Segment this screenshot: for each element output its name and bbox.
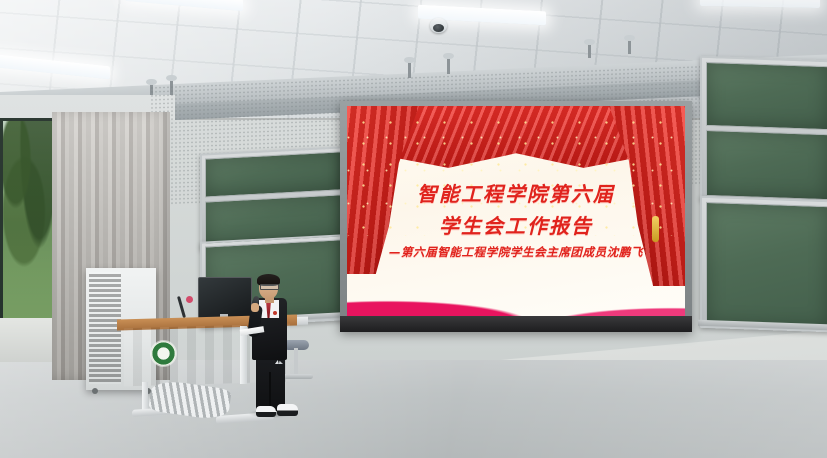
lapel-pin-icon — [273, 311, 277, 315]
rack-caster — [92, 388, 98, 394]
ceiling-sprinkler-head — [447, 58, 450, 74]
green-chalkboard — [700, 196, 827, 333]
screen-title-line-1: 智能工程学院第六届 — [347, 178, 685, 207]
eyeglasses-icon — [260, 284, 279, 290]
office-chair-post — [294, 348, 298, 376]
screen-title-line-2: 学生会工作报告 — [347, 210, 685, 239]
presenter-shoe — [277, 404, 298, 416]
green-chalkboard — [200, 146, 344, 250]
presenter-hand — [251, 303, 259, 312]
ceiling-sprinkler-head — [628, 40, 631, 54]
pink-wave-highlight — [347, 284, 685, 318]
lecture-hall-photo: 智能工程学院第六届 学生会工作报告 —第六届智能工程学院学生会主席团成员沈鹏飞 — [0, 0, 827, 458]
university-crest-emblem — [151, 341, 176, 366]
desktop-monitor[interactable] — [198, 277, 252, 319]
presenter-shoe — [256, 406, 276, 417]
desk-leg — [142, 382, 148, 410]
ceiling-sprinkler-head — [588, 44, 591, 58]
screen-bottom-bar — [340, 316, 692, 332]
dome-security-camera — [430, 18, 447, 33]
indicator-light — [186, 296, 193, 303]
led-display-screen[interactable]: 智能工程学院第六届 学生会工作报告 —第六届智能工程学院学生会主席团成员沈鹏飞 — [347, 106, 685, 318]
green-chalkboard — [700, 56, 827, 205]
